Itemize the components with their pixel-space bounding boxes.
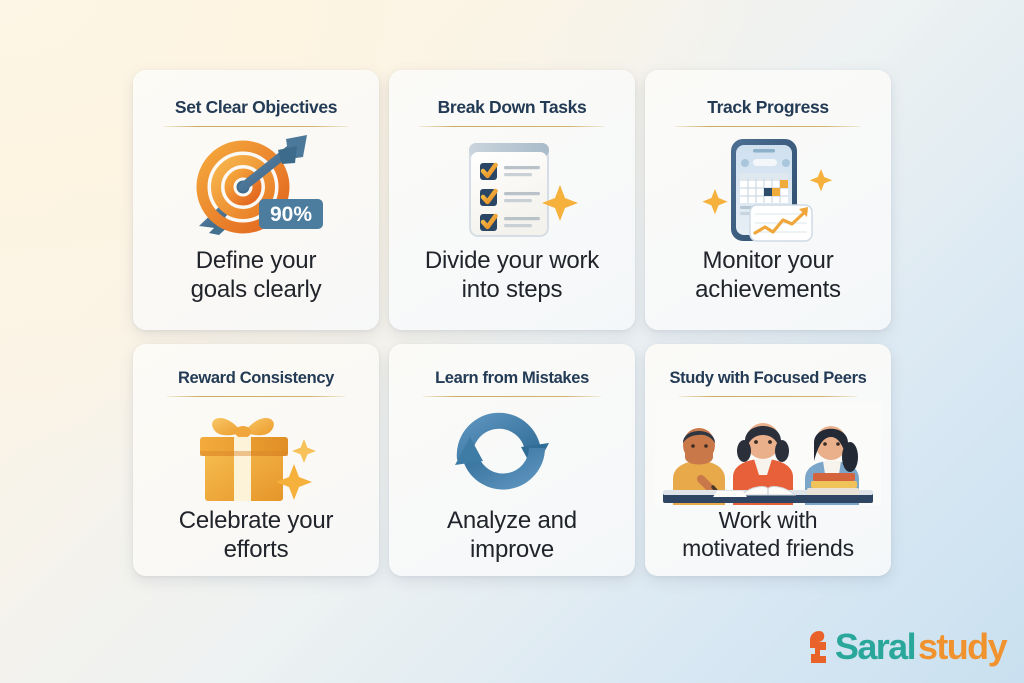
card-set-clear-objectives[interactable]: Set Clear Objectives — [133, 70, 379, 330]
target-badge: 90% — [259, 199, 323, 229]
card-title: Track Progress — [707, 99, 829, 117]
card-title: Learn from Mistakes — [435, 370, 589, 387]
title-underline — [675, 126, 861, 128]
card-reward-consistency[interactable]: Reward Consistency — [133, 344, 379, 576]
card-title: Break Down Tasks — [438, 99, 587, 117]
sparkle-icon — [702, 189, 727, 214]
caption-line-2: goals clearly — [191, 276, 322, 305]
card-caption: Work with motivated friends — [674, 507, 862, 562]
saralstudy-logo[interactable]: Saralstudy — [806, 629, 1006, 665]
gift-box-icon — [133, 401, 379, 505]
title-underline — [423, 396, 601, 398]
tips-card-grid: Set Clear Objectives — [133, 70, 891, 576]
card-title: Set Clear Objectives — [175, 99, 337, 117]
logo-text-study: study — [918, 629, 1006, 665]
card-caption: Analyze and improve — [439, 507, 585, 565]
caption-line-2: into steps — [425, 276, 599, 305]
card-learn-from-mistakes[interactable]: Learn from Mistakes — [389, 344, 635, 576]
infographic-canvas: Set Clear Objectives — [0, 0, 1024, 683]
logo-text-saral: Saral — [835, 629, 915, 665]
title-underline — [419, 126, 605, 128]
students-group-icon — [645, 401, 891, 505]
card-caption: Celebrate your efforts — [171, 507, 342, 565]
saralstudy-mark-icon — [806, 630, 832, 664]
card-caption: Divide your work into steps — [417, 247, 607, 305]
title-underline — [167, 396, 345, 398]
caption-line-1: Divide your work — [425, 247, 599, 276]
card-study-with-focused-peers[interactable]: Study with Focused Peers — [645, 344, 891, 576]
refresh-cycle-icon — [389, 401, 635, 505]
caption-line-1: Work with — [682, 507, 854, 535]
card-track-progress[interactable]: Track Progress — [645, 70, 891, 330]
title-underline — [679, 396, 857, 398]
sparkle-icon — [292, 439, 316, 463]
badge-text: 90% — [270, 203, 312, 226]
card-title: Study with Focused Peers — [670, 370, 867, 387]
caption-line-1: Analyze and — [447, 507, 577, 536]
caption-line-1: Celebrate your — [179, 507, 334, 536]
caption-line-2: efforts — [179, 536, 334, 565]
card-caption: Define your goals clearly — [183, 247, 330, 305]
checklist-icon — [389, 133, 635, 245]
card-title: Reward Consistency — [178, 370, 334, 387]
target-arrow-icon: 90% — [133, 133, 379, 245]
title-underline — [163, 126, 349, 128]
caption-line-2: achievements — [695, 276, 841, 305]
caption-line-1: Define your — [191, 247, 322, 276]
caption-line-2: motivated friends — [682, 535, 854, 563]
sparkle-icon — [810, 169, 832, 191]
phone-chart-icon — [645, 133, 891, 245]
card-break-down-tasks[interactable]: Break Down Tasks — [389, 70, 635, 330]
caption-line-1: Monitor your — [695, 247, 841, 276]
caption-line-2: improve — [447, 536, 577, 565]
card-caption: Monitor your achievements — [687, 247, 849, 305]
